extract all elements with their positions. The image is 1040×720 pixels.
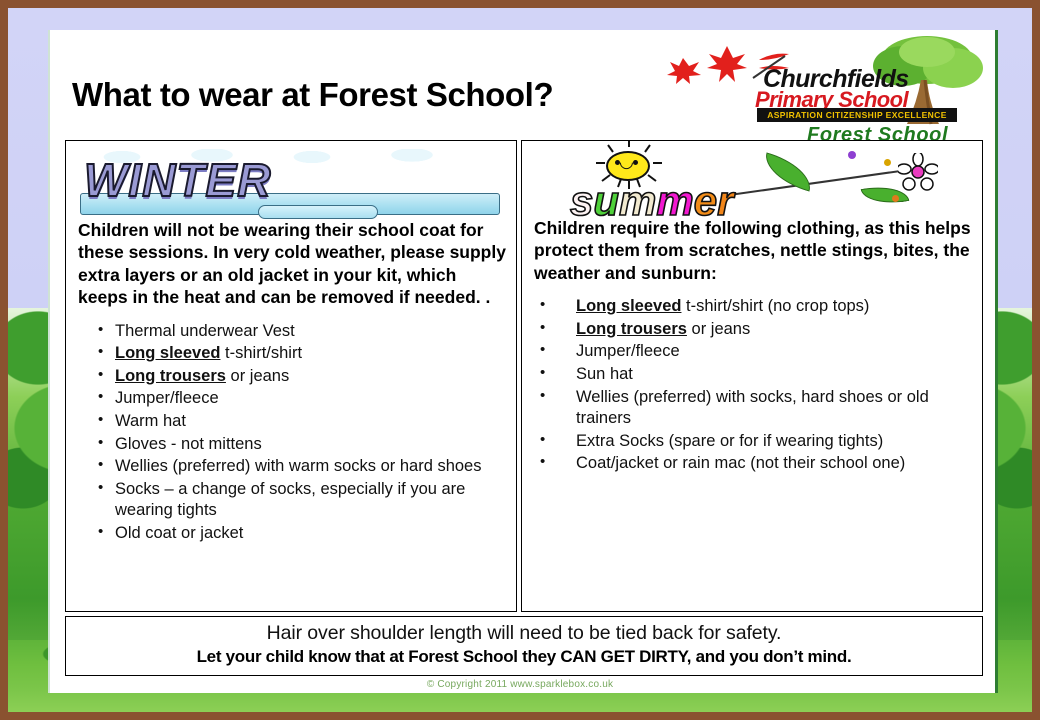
list-item-emphasis: Long sleeved xyxy=(115,344,220,362)
list-item: Long sleeved t-shirt/shirt xyxy=(98,343,506,365)
slide-background: © Copyright 2011 www.sparklebox.co.uk Wh… xyxy=(8,8,1032,712)
footer-line-hair: Hair over shoulder length will need to b… xyxy=(66,622,982,645)
confetti-dot-purple xyxy=(848,151,856,159)
list-item: Thermal underwear Vest xyxy=(98,321,506,343)
school-logo: Churchfields Primary School ASPIRATION C… xyxy=(659,32,989,132)
list-item-emphasis: Long sleeved xyxy=(576,297,681,315)
winter-intro: Children will not be wearing their schoo… xyxy=(78,219,506,309)
logo-values-strip: ASPIRATION CITIZENSHIP EXCELLENCE xyxy=(757,108,957,122)
list-item-emphasis: Long trousers xyxy=(576,320,687,338)
summer-intro: Children require the following clothing,… xyxy=(534,217,972,284)
confetti-dot-orange xyxy=(892,195,899,202)
card-header: What to wear at Forest School? xyxy=(50,30,995,133)
summer-column: summer Children require the following cl… xyxy=(521,140,983,612)
ice-block-small-icon xyxy=(258,205,378,219)
list-item: Coat/jacket or rain mac (not their schoo… xyxy=(540,453,972,475)
snow-cap-icon xyxy=(82,149,502,163)
list-item: Long trousers or jeans xyxy=(540,319,972,341)
winter-wordart: WINTER xyxy=(78,149,506,215)
flower-icon xyxy=(898,153,938,193)
list-item-emphasis: Long trousers xyxy=(115,367,226,385)
summer-kit-list: Long sleeved t-shirt/shirt (no crop tops… xyxy=(540,296,972,475)
list-item: Gloves - not mittens xyxy=(98,434,506,456)
winter-kit-list: Thermal underwear VestLong sleeved t-shi… xyxy=(98,321,506,545)
list-item: Extra Socks (spare or for if wearing tig… xyxy=(540,431,972,453)
summer-wordart: summer xyxy=(532,147,972,213)
list-item: Long trousers or jeans xyxy=(98,366,506,388)
list-item: Jumper/fleece xyxy=(540,341,972,363)
footer-line-dirty: Let your child know that at Forest Schoo… xyxy=(66,647,982,667)
slide-canvas: © Copyright 2011 www.sparklebox.co.uk Wh… xyxy=(0,0,1040,720)
list-item: Wellies (preferred) with warm socks or h… xyxy=(98,456,506,478)
list-item: Warm hat xyxy=(98,411,506,433)
copyright-credit: © Copyright 2011 www.sparklebox.co.uk xyxy=(8,679,1032,690)
footer-note: Hair over shoulder length will need to b… xyxy=(65,616,983,676)
page-title: What to wear at Forest School? xyxy=(72,76,553,114)
list-item: Sun hat xyxy=(540,364,972,386)
season-columns: WINTER Children will not be wearing thei… xyxy=(65,140,983,612)
list-item: Wellies (preferred) with socks, hard sho… xyxy=(540,387,972,430)
confetti-dot-gold xyxy=(884,159,891,166)
list-item: Long sleeved t-shirt/shirt (no crop tops… xyxy=(540,296,972,318)
list-item: Jumper/fleece xyxy=(98,388,506,410)
winter-column: WINTER Children will not be wearing thei… xyxy=(65,140,517,612)
list-item: Old coat or jacket xyxy=(98,523,506,545)
content-card: What to wear at Forest School? xyxy=(48,30,998,693)
list-item: Socks – a change of socks, especially if… xyxy=(98,479,506,522)
summer-heading: summer xyxy=(570,177,733,225)
